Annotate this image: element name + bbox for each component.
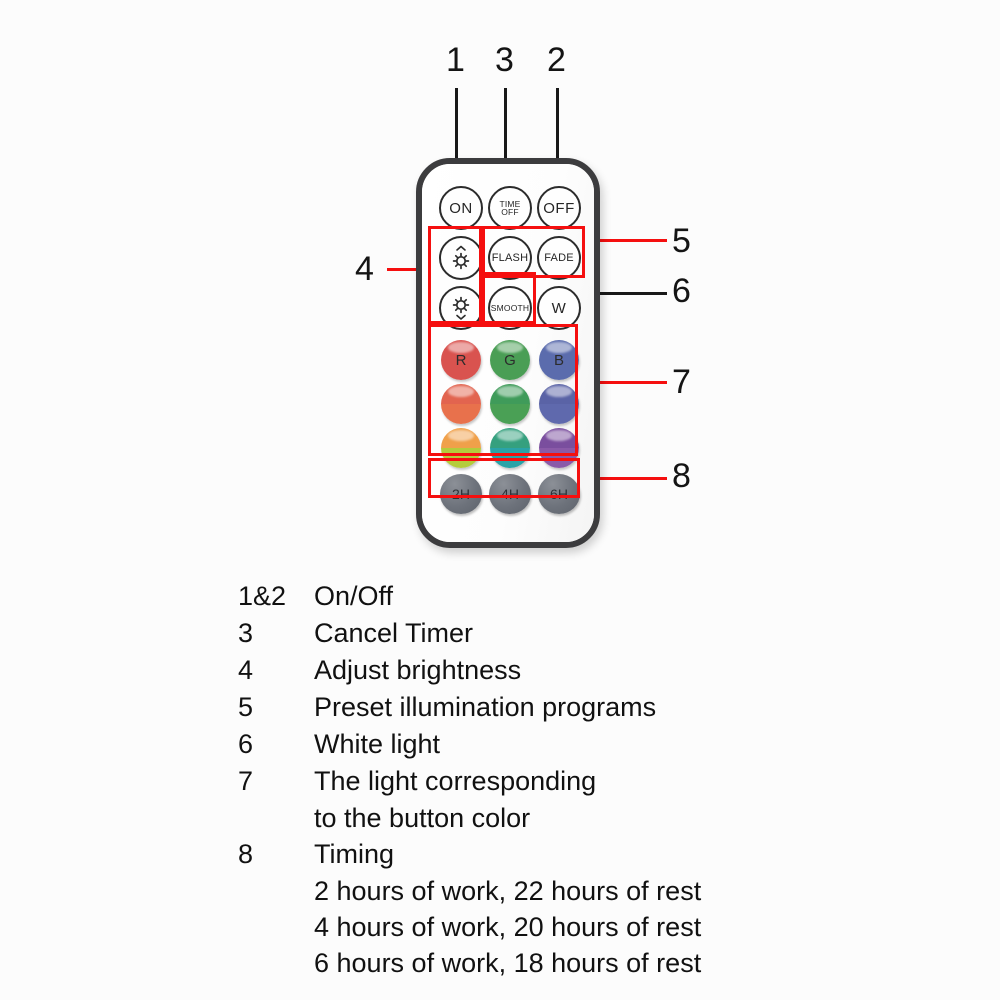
callout-number-5: 5: [672, 224, 691, 258]
callout-number-3: 3: [495, 43, 514, 77]
legend-list: 1&2 On/Off 3 Cancel Timer 4 Adjust brigh…: [238, 578, 958, 981]
legend-row: 4 Adjust brightness: [238, 652, 958, 688]
button-on[interactable]: ON: [439, 186, 483, 230]
sun-chevron-up-icon: [448, 244, 474, 272]
button-smooth[interactable]: SMOOTH: [488, 286, 532, 330]
legend-number: 7: [238, 763, 314, 799]
button-color-salmon-orange[interactable]: [441, 384, 481, 424]
legend-row: 1&2 On/Off: [238, 578, 958, 614]
legend-subline: 4 hours of work, 20 hours of rest: [314, 909, 958, 945]
legend-number: 6: [238, 726, 314, 762]
dot-bottom-half: [441, 448, 481, 468]
button-color-green-mid[interactable]: [490, 384, 530, 424]
legend-row: 7 The light corresponding: [238, 763, 958, 799]
dot-bottom-half: [539, 448, 579, 468]
legend-subline: 2 hours of work, 22 hours of rest: [314, 873, 958, 909]
legend-number: 5: [238, 689, 314, 725]
dot-gloss: [546, 430, 572, 441]
legend-description: Adjust brightness: [314, 652, 521, 688]
button-white[interactable]: W: [537, 286, 581, 330]
dot-gloss: [497, 386, 523, 397]
button-timer-4h[interactable]: 4H: [489, 474, 531, 514]
button-off[interactable]: OFF: [537, 186, 581, 230]
legend-row: 3 Cancel Timer: [238, 615, 958, 651]
dot-gloss: [497, 430, 523, 441]
legend-row: 5 Preset illumination programs: [238, 689, 958, 725]
legend-description: Timing: [314, 836, 394, 872]
button-color-blue[interactable]: B: [539, 340, 579, 380]
color-label: B: [539, 340, 579, 380]
legend-description: The light corresponding: [314, 763, 596, 799]
dot-bottom-half: [441, 404, 481, 424]
legend-number: 8: [238, 836, 314, 872]
button-fade[interactable]: FADE: [537, 236, 581, 280]
legend-subline: 6 hours of work, 18 hours of rest: [314, 945, 958, 981]
dot-gloss: [448, 430, 474, 441]
callout-number-6: 6: [672, 274, 691, 308]
color-label: R: [441, 340, 481, 380]
button-brightness-down[interactable]: [439, 286, 483, 330]
button-time-off[interactable]: TIME OFF: [488, 186, 532, 230]
callout-number-8: 8: [672, 459, 691, 493]
legend-description: White light: [314, 726, 440, 762]
legend-description: On/Off: [314, 578, 393, 614]
callout-number-1: 1: [446, 43, 465, 77]
callout-number-4: 4: [355, 252, 374, 286]
color-label: G: [490, 340, 530, 380]
legend-description: Cancel Timer: [314, 615, 473, 651]
callout-number-7: 7: [672, 365, 691, 399]
legend-subline: to the button color: [314, 800, 958, 836]
callout-number-2: 2: [547, 43, 566, 77]
button-color-orange-lime[interactable]: [441, 428, 481, 468]
dot-bottom-half: [539, 404, 579, 424]
button-timer-2h[interactable]: 2H: [440, 474, 482, 514]
button-color-purple-violet[interactable]: [539, 428, 579, 468]
button-color-teal-cyan[interactable]: [490, 428, 530, 468]
legend-number: 1&2: [238, 578, 314, 614]
diagram-canvas: 1 3 2 4 5 6 7 8 ON TIME OFF OFF: [0, 0, 1000, 1000]
sun-chevron-down-icon: [448, 294, 474, 322]
dot-gloss: [448, 386, 474, 397]
dot-bottom-half: [490, 448, 530, 468]
button-flash[interactable]: FLASH: [488, 236, 532, 280]
button-color-red[interactable]: R: [441, 340, 481, 380]
legend-number: 3: [238, 615, 314, 651]
legend-row: 6 White light: [238, 726, 958, 762]
dot-gloss: [546, 386, 572, 397]
legend-row: 8 Timing: [238, 836, 958, 872]
button-color-indigo[interactable]: [539, 384, 579, 424]
button-color-green[interactable]: G: [490, 340, 530, 380]
legend-description: Preset illumination programs: [314, 689, 656, 725]
legend-number: 4: [238, 652, 314, 688]
remote-face: ON TIME OFF OFF: [422, 164, 594, 542]
button-timer-6h[interactable]: 6H: [538, 474, 580, 514]
button-brightness-up[interactable]: [439, 236, 483, 280]
dot-bottom-half: [490, 404, 530, 424]
remote-control-body: ON TIME OFF OFF: [416, 158, 600, 548]
